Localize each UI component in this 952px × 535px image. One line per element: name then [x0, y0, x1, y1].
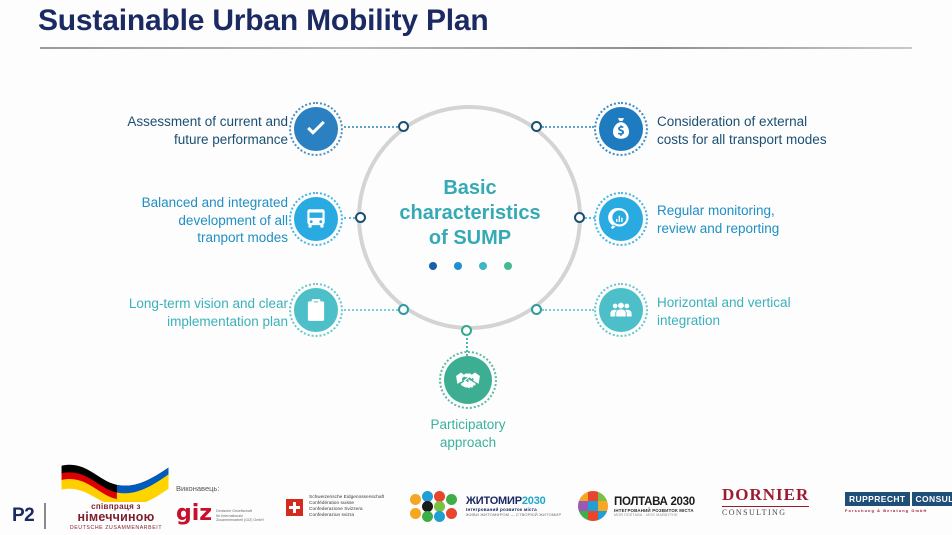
connector-external-costs	[542, 126, 594, 128]
poltava-slogan: МОЯ ПОЛТАВА - МОЄ МАЙБУТНЄ	[614, 513, 695, 517]
giz-sub-3: Zusammenarbeit (GIZ) GmbH	[216, 518, 264, 523]
handshake-icon	[454, 366, 482, 394]
money-bag-icon	[608, 116, 634, 142]
label-balanced-line-2: development of all	[90, 212, 288, 230]
poltava-name: ПОЛТАВА	[614, 496, 668, 508]
page-title: Sustainable Urban Mobility Plan	[38, 4, 489, 38]
clipboard-icon	[303, 297, 329, 323]
logo-dornier-consulting: DORNIER CONSULTING	[722, 485, 809, 518]
logo-rupprecht-consult: RUPPRECHT CONSULT Forschung & Beratung G…	[845, 492, 952, 513]
ring-node-integration	[531, 304, 542, 315]
center-dots	[380, 262, 560, 270]
label-vision-line-1: Long-term vision and clear	[90, 295, 288, 313]
ring-node-external-costs	[531, 121, 542, 132]
label-vision-line-2: implementation plan	[90, 313, 288, 331]
dornier-name: DORNIER	[722, 485, 809, 505]
center-line-2: characteristics	[380, 201, 560, 226]
label-integration-line-1: Horizontal and vertical	[657, 294, 877, 312]
dot-3	[479, 262, 487, 270]
icon-badge-participatory[interactable]	[444, 356, 492, 404]
zhytomyr-name: ЖИТОМИР	[466, 495, 522, 507]
label-integration-line-2: integration	[657, 312, 877, 330]
check-icon	[303, 116, 329, 142]
swiss-flag-icon	[286, 499, 303, 516]
icon-badge-monitoring[interactable]	[599, 197, 643, 241]
logo-poltava-2030: ПОЛТАВА 2030 ІНТЕГРОВАНИЙ РОЗВИТОК МІСТА…	[578, 491, 695, 521]
magnifier-chart-icon	[608, 206, 634, 232]
swiss-line-4: Confederaziun svizra	[309, 513, 384, 519]
label-integration: Horizontal and vertical integration	[657, 294, 877, 329]
center-heading: Basic characteristics of SUMP	[380, 176, 560, 251]
zhytomyr-slogan: ЖИВИ ЖИТОМИРОМ — СТВОРЮЙ ЖИТОМИР	[466, 512, 561, 517]
footer-logo-bar: P2 співпраця з німеччиною DEUTSCHE ZUSAM…	[0, 463, 952, 535]
bus-icon	[303, 206, 329, 232]
dornier-sub: CONSULTING	[722, 508, 809, 517]
slide-canvas: Sustainable Urban Mobility Plan Basic ch…	[0, 0, 952, 535]
zhytomyr-name-row: ЖИТОМИР2030	[466, 496, 561, 507]
center-line-3: of SUMP	[380, 226, 560, 251]
label-monitoring-line-2: review and reporting	[657, 220, 877, 238]
zhytomyr-mark-icon	[410, 491, 460, 521]
label-participatory: Participatory approach	[388, 416, 548, 451]
label-balanced-development: Balanced and integrated development of a…	[90, 194, 288, 247]
zhytomyr-year: 2030	[522, 495, 546, 507]
ring-node-assessment	[398, 121, 409, 132]
icon-badge-integration[interactable]	[599, 288, 643, 332]
connector-integration	[542, 309, 594, 311]
poltava-name-row: ПОЛТАВА 2030	[614, 496, 695, 508]
giz-caption: Виконавець:	[176, 484, 219, 493]
german-coop-line-2: німеччиною	[56, 511, 176, 524]
logo-german-cooperation: співпраця з німеччиною DEUTSCHE ZUSAMMEN…	[56, 460, 176, 531]
ring-node-monitoring	[574, 212, 585, 223]
label-balanced-line-3: tranport modes	[90, 229, 288, 247]
label-participatory-line-2: approach	[388, 434, 548, 452]
icon-badge-long-term-vision[interactable]	[294, 288, 338, 332]
label-monitoring: Regular monitoring, review and reporting	[657, 202, 877, 237]
logo-giz: giz Deutsche Gesellschaft für Internatio…	[176, 505, 264, 523]
dornier-rule	[722, 506, 809, 508]
label-monitoring-line-1: Regular monitoring,	[657, 202, 877, 220]
dot-1	[429, 262, 437, 270]
label-participatory-line-1: Participatory	[388, 416, 548, 434]
poltava-text-block: ПОЛТАВА 2030 ІНТЕГРОВАНИЙ РОЗВИТОК МІСТА…	[614, 496, 695, 517]
swiss-text-block: Schweizerische Eidgenossenschaft Confédé…	[309, 495, 384, 519]
rupprecht-words: RUPPRECHT CONSULT	[845, 492, 952, 506]
connector-vision	[344, 309, 398, 311]
label-costs-line-1: Consideration of external	[657, 113, 877, 131]
rupprecht-word-2: CONSULT	[912, 492, 952, 506]
german-coop-line-3: DEUTSCHE ZUSAMMENARBEIT	[56, 525, 176, 531]
label-costs-line-2: costs for all transport modes	[657, 131, 877, 149]
page-number: P2	[12, 505, 34, 527]
giz-wordmark: giz	[176, 505, 212, 523]
center-line-1: Basic	[380, 176, 560, 201]
people-icon	[608, 297, 634, 323]
logo-swiss-confederation: Schweizerische Eidgenossenschaft Confédé…	[286, 495, 384, 519]
connector-assessment	[344, 126, 398, 128]
page-number-divider	[44, 503, 46, 529]
ring-node-vision	[398, 304, 409, 315]
title-divider	[40, 47, 912, 49]
connector-balanced	[344, 217, 355, 219]
label-external-costs: Consideration of external costs for all …	[657, 113, 877, 148]
dot-2	[454, 262, 462, 270]
poltava-year: 2030	[670, 496, 694, 508]
icon-badge-assessment[interactable]	[294, 107, 338, 151]
rupprecht-word-1: RUPPRECHT	[845, 492, 910, 506]
label-assessment-line-1: Assessment of current and	[90, 113, 288, 131]
german-ukrainian-ribbon-icon	[56, 460, 174, 502]
label-assessment: Assessment of current and future perform…	[90, 113, 288, 148]
poltava-tagline: ІНТЕГРОВАНИЙ РОЗВИТОК МІСТА	[614, 508, 695, 513]
icon-badge-balanced-development[interactable]	[294, 197, 338, 241]
giz-subtext: Deutsche Gesellschaft für Internationale…	[216, 509, 264, 523]
poltava-mark-icon	[578, 491, 608, 521]
zhytomyr-text-block: ЖИТОМИР2030 Інтегрований розвиток міста …	[466, 496, 561, 517]
icon-badge-external-costs[interactable]	[599, 107, 643, 151]
label-assessment-line-2: future performance	[90, 131, 288, 149]
label-long-term-vision: Long-term vision and clear implementatio…	[90, 295, 288, 330]
logo-zhytomyr-2030: ЖИТОМИР2030 Інтегрований розвиток міста …	[410, 491, 561, 521]
dot-4	[504, 262, 512, 270]
label-balanced-line-1: Balanced and integrated	[90, 194, 288, 212]
ring-node-balanced	[355, 212, 366, 223]
rupprecht-sub: Forschung & Beratung GmbH	[845, 508, 952, 513]
